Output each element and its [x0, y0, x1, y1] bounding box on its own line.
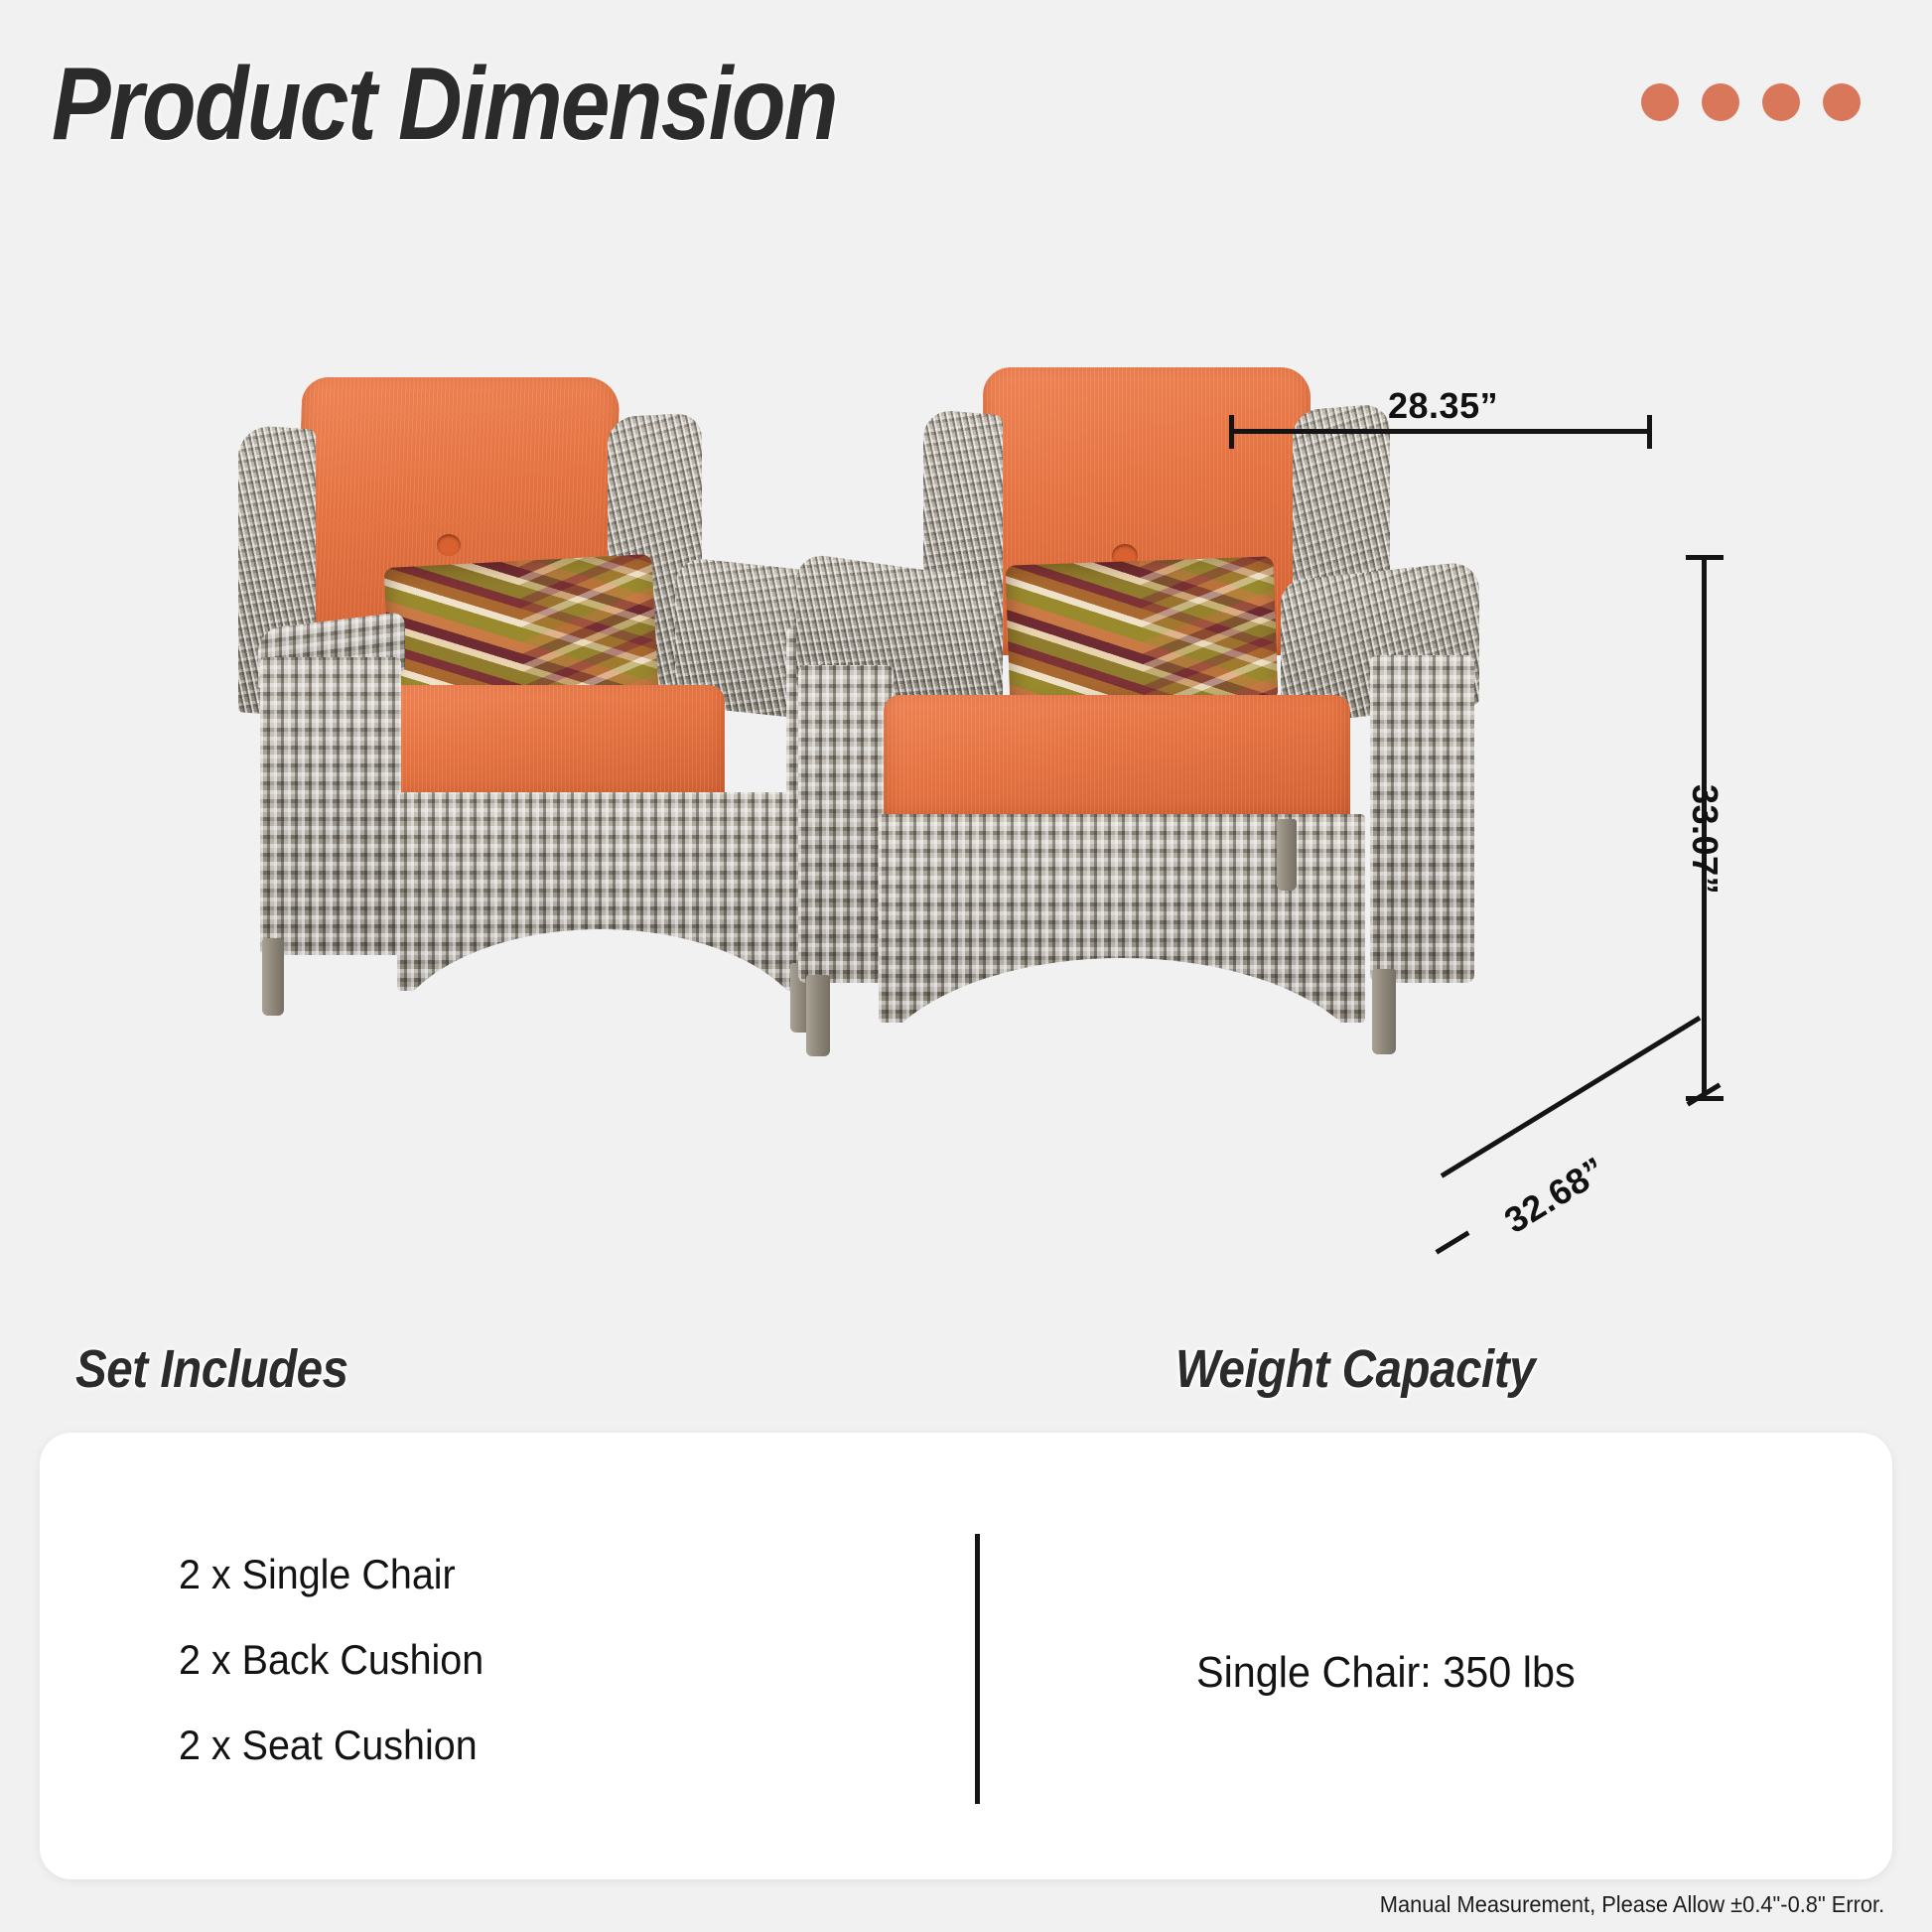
measurement-disclaimer: Manual Measurement, Please Allow ±0.4"-0… — [1380, 1891, 1884, 1918]
accent-dot-icon — [1762, 83, 1800, 121]
chair-leg-front-right — [1372, 969, 1396, 1054]
accent-dot-icon — [1641, 83, 1679, 121]
set-includes-heading: Set Includes — [75, 1338, 348, 1400]
seat-cushion — [884, 695, 1350, 824]
dimension-label-height: 33.07” — [1684, 784, 1725, 895]
list-item: 2 x Seat Cushion — [179, 1722, 483, 1769]
cushion-button-icon — [437, 534, 461, 556]
dimension-cap-width-left — [1229, 415, 1234, 449]
accent-dot-icon — [1702, 83, 1739, 121]
card-divider — [975, 1534, 980, 1804]
product-illustration-area — [0, 298, 1932, 1301]
list-item: 2 x Back Cushion — [179, 1636, 483, 1684]
chair-right-arm-panel — [1370, 655, 1474, 983]
accent-dot-icon — [1823, 83, 1861, 121]
weight-capacity-heading: Weight Capacity — [1175, 1338, 1535, 1400]
page-title: Product Dimension — [52, 46, 837, 164]
dimension-cap-width-right — [1647, 415, 1652, 449]
list-item: 2 x Single Chair — [179, 1551, 483, 1598]
throw-pillow — [1006, 556, 1279, 709]
chair-left-arm-panel — [260, 657, 401, 955]
decorative-dot-group — [1641, 83, 1861, 121]
chair-right — [784, 367, 1479, 1152]
set-includes-list: 2 x Single Chair 2 x Back Cushion 2 x Se… — [179, 1551, 503, 1769]
chair-left — [238, 377, 864, 1092]
product-dimension-infographic: Product Dimension — [0, 0, 1932, 1932]
dimension-cap-height-top — [1686, 555, 1724, 560]
dimension-label-width: 28.35” — [1388, 385, 1498, 427]
weight-capacity-value: Single Chair: 350 lbs — [1196, 1648, 1576, 1698]
chair-leg-back-right — [1277, 819, 1297, 891]
chair-leg-front-left — [806, 975, 830, 1056]
seat-cushion — [382, 685, 725, 804]
dimension-line-width — [1229, 429, 1652, 434]
chair-leg-front-left — [262, 938, 284, 1016]
throw-pillow — [384, 554, 659, 707]
